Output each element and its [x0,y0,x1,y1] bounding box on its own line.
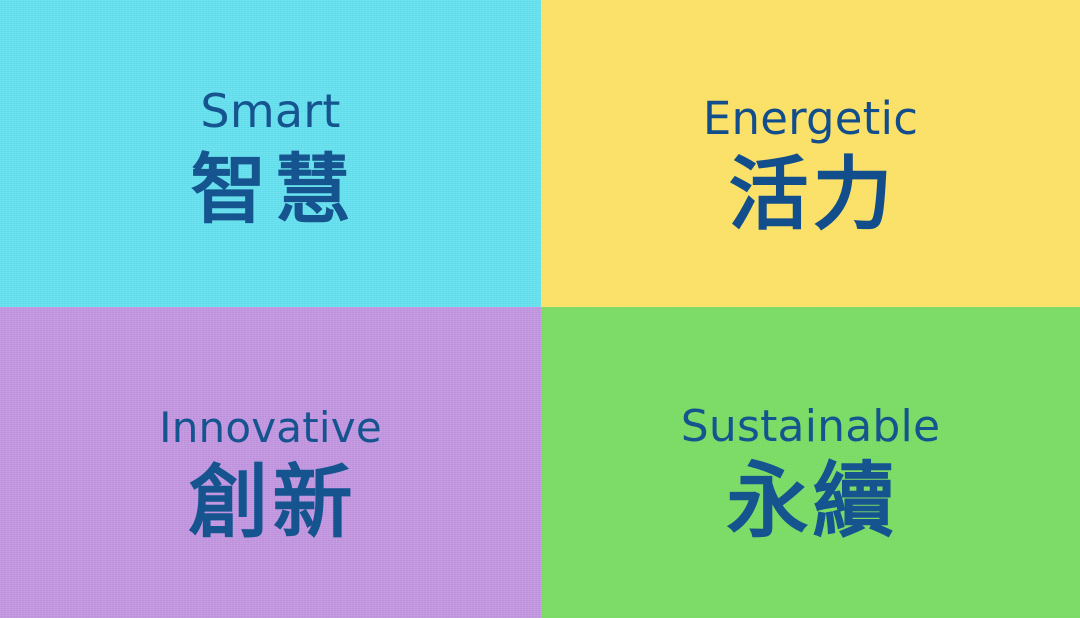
quadrant-smart-label-cjk: 智慧 [183,152,359,228]
quadrant-sustainable: Sustainable 永續 [541,307,1080,618]
quadrant-energetic-text-stack: Energetic 活力 [541,0,1080,235]
quadrant-energetic: Energetic 活力 [541,0,1080,307]
quadrant-innovative-label-cjk: 創新 [185,463,357,543]
quadrant-innovative: Innovative 創新 [0,307,541,618]
quadrant-innovative-text-stack: Innovative 創新 [0,307,541,543]
quadrant-sustainable-text-stack: Sustainable 永續 [541,307,1080,543]
brand-values-grid: Smart 智慧 Energetic 活力 Innovative 創新 Sust… [0,0,1080,618]
quadrant-innovative-label-en: Innovative [159,407,382,449]
quadrant-smart-text-stack: Smart 智慧 [0,0,541,228]
quadrant-energetic-label-en: Energetic [703,96,918,141]
quadrant-smart-label-en: Smart [200,88,340,134]
quadrant-energetic-label-cjk: 活力 [725,155,897,235]
quadrant-smart: Smart 智慧 [0,0,541,307]
quadrant-sustainable-label-en: Sustainable [681,405,940,449]
quadrant-sustainable-label-cjk: 永續 [722,461,898,543]
